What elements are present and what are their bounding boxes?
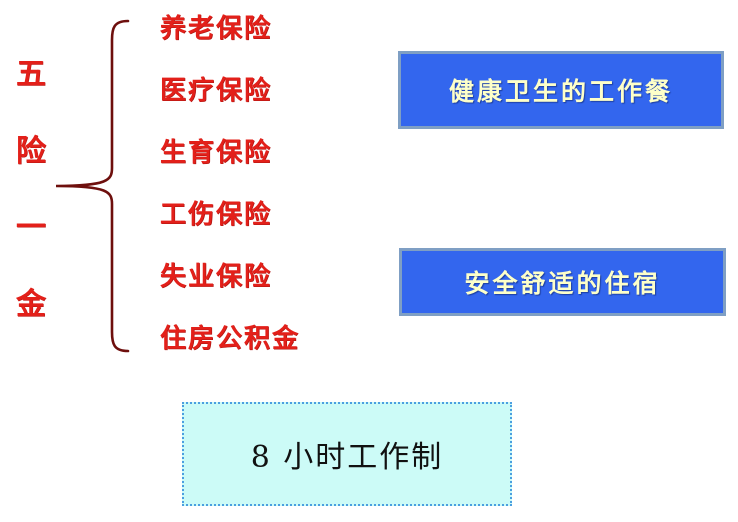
vertical-label-char-3: 一 [16, 213, 46, 243]
five-insurances-one-fund-label: 五 险 一 金 [8, 60, 54, 320]
curly-brace-icon [52, 18, 132, 354]
benefit-item-housing-fund: 住房公积金 [160, 326, 300, 352]
blue-box-safe-housing-label: 安全舒适的住宿 [464, 264, 660, 300]
vertical-label-char-4: 金 [16, 290, 46, 320]
benefit-item-pension: 养老保险 [160, 16, 272, 42]
cyan-box-eight-hour-workday: 8 小时工作制 [182, 402, 512, 506]
blue-box-healthy-meal: 健康卫生的工作餐 [398, 51, 724, 129]
vertical-label-char-1: 五 [16, 60, 46, 90]
benefit-item-work-injury: 工伤保险 [160, 202, 272, 228]
vertical-label-char-2: 险 [16, 137, 46, 167]
benefit-item-maternity: 生育保险 [160, 140, 272, 166]
slide-canvas: 五 险 一 金 养老保险 医疗保险 生育保险 工伤保险 失业保险 住房公积金 健… [0, 0, 738, 522]
benefit-item-list: 养老保险 医疗保险 生育保险 工伤保险 失业保险 住房公积金 [160, 0, 360, 370]
benefit-item-unemployment: 失业保险 [160, 264, 272, 290]
benefit-item-medical: 医疗保险 [160, 78, 272, 104]
cyan-box-eight-hour-workday-label: 8 小时工作制 [251, 432, 444, 476]
blue-box-safe-housing: 安全舒适的住宿 [399, 248, 726, 316]
blue-box-healthy-meal-label: 健康卫生的工作餐 [449, 72, 673, 108]
